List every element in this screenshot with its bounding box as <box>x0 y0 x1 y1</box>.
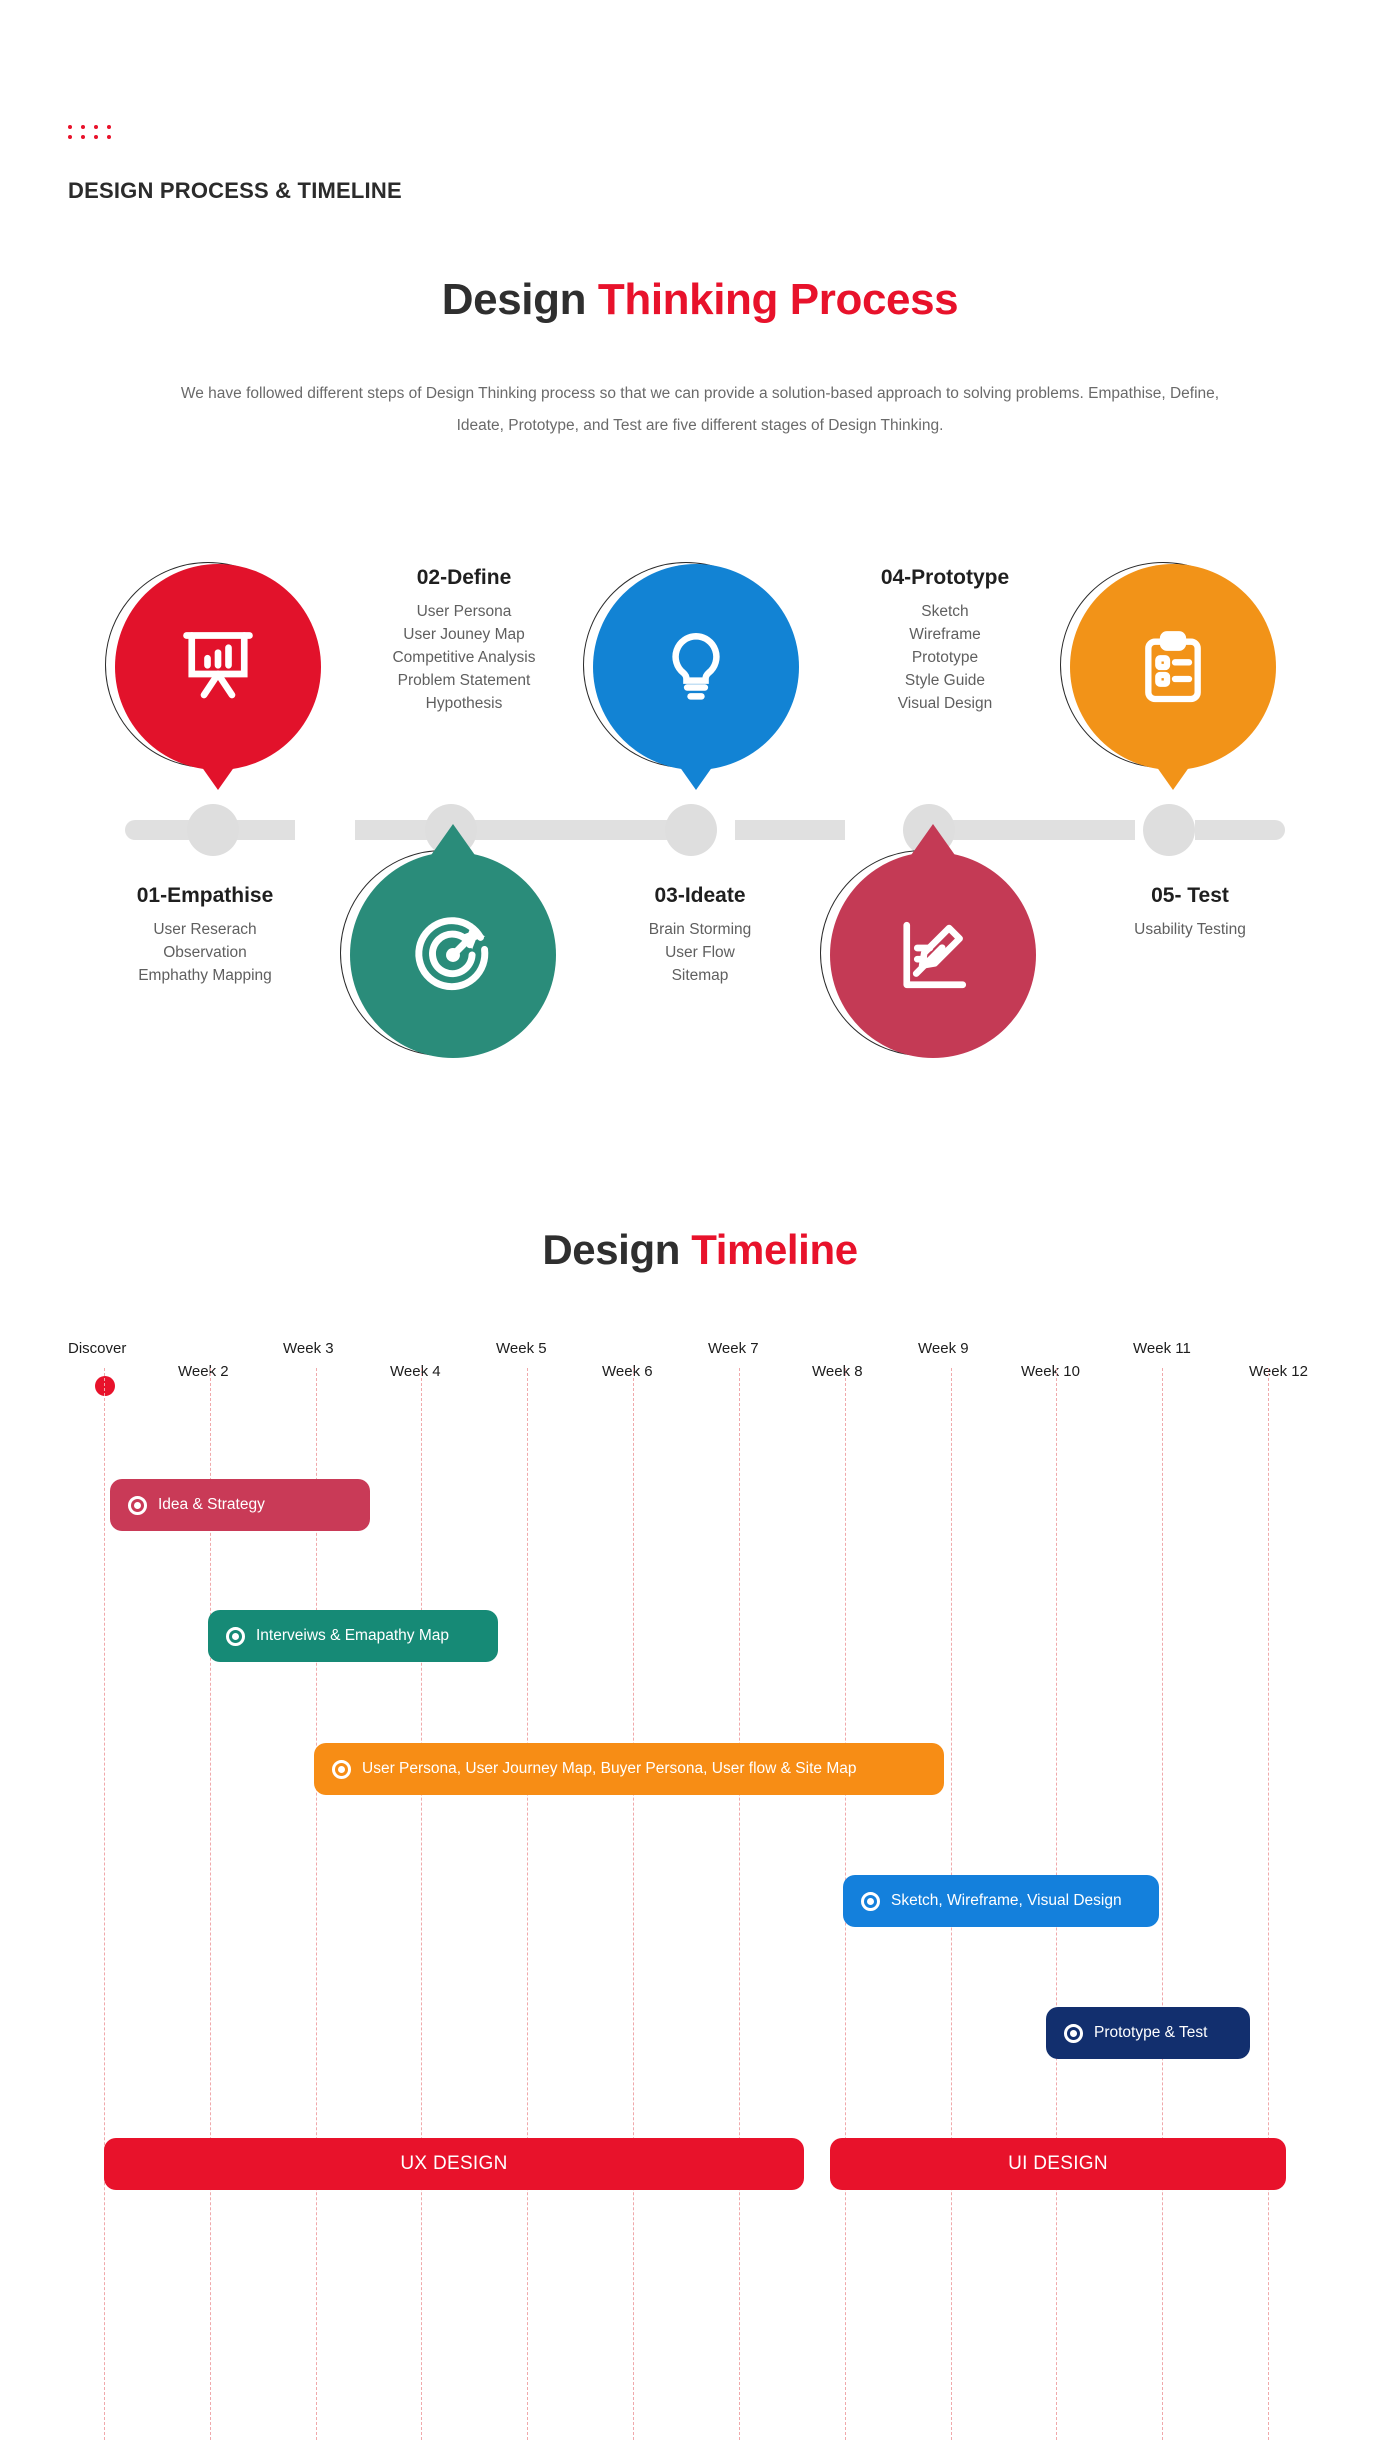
step-item: Wireframe <box>795 624 1095 647</box>
ring-marker-icon <box>226 1627 245 1646</box>
process-step-prototype: 04-Prototype Sketch Wireframe Prototype … <box>795 566 1095 716</box>
timeline-task-bar[interactable]: Interveiws & Emapathy Map <box>208 1610 498 1662</box>
timeline-task-bar[interactable]: Prototype & Test <box>1046 2007 1250 2059</box>
phase-label: UI DESIGN <box>1008 2153 1108 2175</box>
timeline-task-bar[interactable]: Sketch, Wireframe, Visual Design <box>843 1875 1159 1927</box>
timeline-title-highlight: Timeline <box>691 1226 857 1273</box>
ring-marker-icon <box>128 1496 147 1515</box>
gridline <box>633 1368 634 2440</box>
step-item: User Reserach <box>55 919 355 942</box>
step-item: Competitive Analysis <box>314 647 614 670</box>
axis-label-week-7: Week 7 <box>708 1340 759 1357</box>
step-item: Observation <box>55 942 355 965</box>
clipboard-checklist-icon <box>1070 564 1276 770</box>
process-node-1 <box>187 804 239 856</box>
step-item: Hypothesis <box>314 693 614 716</box>
target-icon <box>350 852 556 1058</box>
page-kicker: DESIGN PROCESS & TIMELINE <box>68 178 402 204</box>
step-item: Style Guide <box>795 670 1095 693</box>
step-item: Problem Statement <box>314 670 614 693</box>
gridline <box>1162 1368 1163 2440</box>
step-item: User Flow <box>550 942 850 965</box>
step-item: Sketch <box>795 601 1095 624</box>
page-title: Design Thinking Process <box>0 275 1400 325</box>
step-heading: 05- Test <box>1040 884 1340 908</box>
process-step-empathise: 01-Empathise User Reserach Observation E… <box>55 884 355 988</box>
step-item: Emphathy Mapping <box>55 965 355 988</box>
step-heading: 03-Ideate <box>550 884 850 908</box>
process-step-test: 05- Test Usability Testing <box>1040 884 1340 942</box>
gridline <box>739 1368 740 2440</box>
process-node-5 <box>1143 804 1195 856</box>
step-item: Prototype <box>795 647 1095 670</box>
axis-label-week-11: Week 11 <box>1133 1340 1191 1357</box>
task-label: Idea & Strategy <box>158 1496 265 1514</box>
step-item: User Persona <box>314 601 614 624</box>
axis-label-week-9: Week 9 <box>918 1340 969 1357</box>
timeline-phase-ui[interactable]: UI DESIGN <box>830 2138 1286 2190</box>
step-heading: 02-Define <box>314 566 614 590</box>
timeline-title-plain: Design <box>542 1226 691 1273</box>
gridline <box>527 1368 528 2440</box>
gridline <box>421 1368 422 2440</box>
design-process-diagram: 01-Empathise User Reserach Observation E… <box>0 520 1400 1120</box>
task-label: Prototype & Test <box>1094 2024 1207 2042</box>
axis-label-week-8: Week 8 <box>812 1363 863 1380</box>
axis-label-week-6: Week 6 <box>602 1363 653 1380</box>
axis-label-week-3: Week 3 <box>283 1340 334 1357</box>
axis-label-week-12: Week 12 <box>1249 1363 1308 1380</box>
dot-grid-icon <box>68 125 114 145</box>
process-pin-prototype[interactable] <box>820 850 1036 1080</box>
axis-label-week-10: Week 10 <box>1021 1363 1080 1380</box>
step-item: Brain Storming <box>550 919 850 942</box>
step-item: User Jouney Map <box>314 624 614 647</box>
page-title-plain: Design <box>442 275 598 324</box>
page-title-highlight: Thinking Process <box>598 275 958 324</box>
process-pin-empathise[interactable] <box>105 562 321 792</box>
process-pin-define[interactable] <box>340 850 556 1080</box>
step-item: Usability Testing <box>1040 919 1340 942</box>
presentation-chart-icon <box>115 564 321 770</box>
start-dot-icon <box>95 1376 115 1396</box>
step-heading: 04-Prototype <box>795 566 1095 590</box>
process-step-ideate: 03-Ideate Brain Storming User Flow Sitem… <box>550 884 850 988</box>
timeline-title: Design Timeline <box>0 1226 1400 1274</box>
lightbulb-icon <box>593 564 799 770</box>
process-description: We have followed different steps of Desi… <box>170 378 1230 442</box>
phase-label: UX DESIGN <box>400 2153 507 2175</box>
ring-marker-icon <box>861 1892 880 1911</box>
gridline <box>104 1368 105 2440</box>
axis-label-discover: Discover <box>68 1340 126 1357</box>
step-item: Sitemap <box>550 965 850 988</box>
step-heading: 01-Empathise <box>55 884 355 908</box>
axis-label-week-2: Week 2 <box>178 1363 229 1380</box>
ring-marker-icon <box>332 1760 351 1779</box>
ruler-pencil-icon <box>830 852 1036 1058</box>
task-label: User Persona, User Journey Map, Buyer Pe… <box>362 1760 856 1778</box>
process-node-3 <box>665 804 717 856</box>
axis-label-week-4: Week 4 <box>390 1363 441 1380</box>
timeline-phase-ux[interactable]: UX DESIGN <box>104 2138 804 2190</box>
task-label: Sketch, Wireframe, Visual Design <box>891 1892 1122 1910</box>
process-step-define: 02-Define User Persona User Jouney Map C… <box>314 566 614 716</box>
timeline-task-bar[interactable]: Idea & Strategy <box>110 1479 370 1531</box>
process-pin-ideate[interactable] <box>583 562 799 792</box>
axis-label-week-5: Week 5 <box>496 1340 547 1357</box>
task-label: Interveiws & Emapathy Map <box>256 1627 449 1645</box>
ring-marker-icon <box>1064 2024 1083 2043</box>
gridline <box>1268 1368 1269 2440</box>
timeline-task-bar[interactable]: User Persona, User Journey Map, Buyer Pe… <box>314 1743 944 1795</box>
step-item: Visual Design <box>795 693 1095 716</box>
design-timeline-gantt: Discover Week 2 Week 3 Week 4 Week 5 Wee… <box>0 1300 1400 2230</box>
